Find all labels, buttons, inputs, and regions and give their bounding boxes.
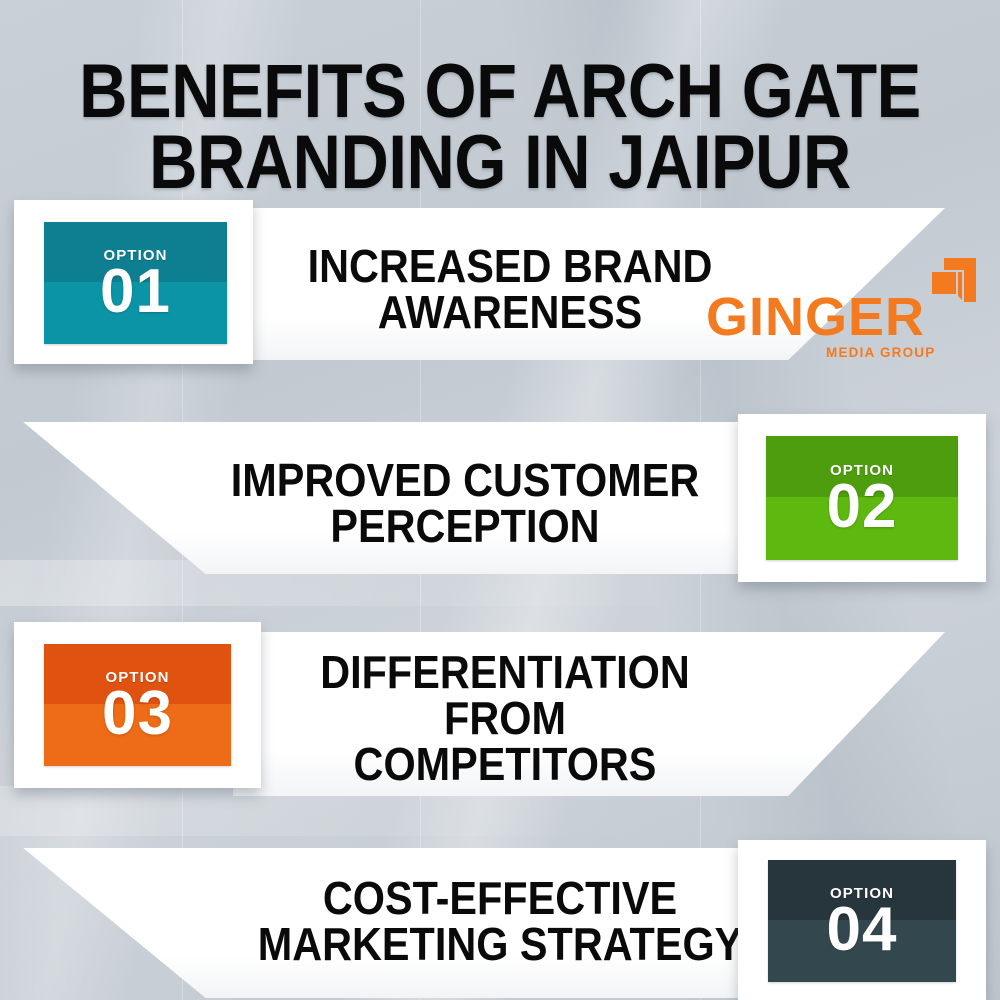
option-chip-2: OPTION 02: [766, 436, 958, 560]
option-number-3: 03: [102, 687, 173, 742]
option-chip-1: OPTION 01: [44, 222, 227, 344]
option-card-3[interactable]: OPTION 03: [14, 622, 261, 788]
benefit-text-4: COST-EFFECTIVE MARKETING STRATEGY: [257, 836, 743, 1000]
logo-wordmark: GINGER: [706, 290, 938, 344]
benefit-text-2: IMPROVED CUSTOMER PERCEPTION: [227, 410, 704, 596]
option-chip-3: OPTION 03: [44, 644, 231, 766]
ginger-arrow-mark-icon: [928, 256, 980, 306]
option-card-4[interactable]: OPTION 04: [738, 840, 986, 1000]
page-title: BENEFITS OF ARCH GATE BRANDING IN JAIPUR: [60, 57, 940, 198]
logo-tagline: MEDIA GROUP: [826, 345, 954, 360]
brand-logo[interactable]: GINGER MEDIA GROUP: [706, 268, 956, 360]
benefit-text-3: DIFFERENTIATION FROM COMPETITORS: [267, 620, 744, 816]
benefit-text-1: INCREASED BRAND AWARENESS: [276, 196, 744, 382]
option-number-2: 02: [827, 480, 898, 535]
option-number-1: 01: [100, 265, 171, 320]
option-card-1[interactable]: OPTION 01: [14, 200, 253, 364]
option-number-4: 04: [827, 903, 898, 958]
option-chip-4: OPTION 04: [768, 860, 956, 982]
option-card-2[interactable]: OPTION 02: [738, 414, 986, 582]
infographic-poster: BENEFITS OF ARCH GATE BRANDING IN JAIPUR…: [0, 0, 1000, 1000]
